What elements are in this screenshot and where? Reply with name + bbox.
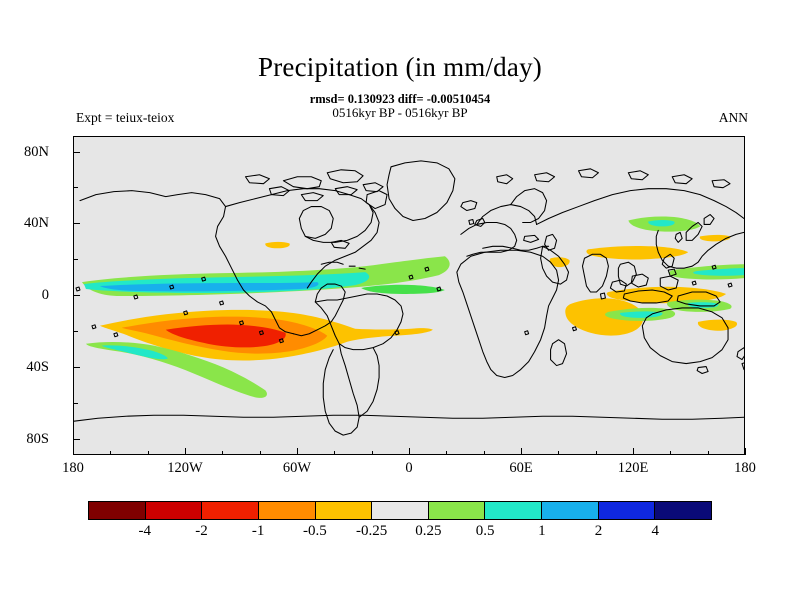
- colorbar-swatches: [88, 501, 712, 520]
- y-tick-60s: [73, 403, 78, 404]
- season-label: ANN: [719, 110, 748, 126]
- y-axis-label-40n: 40N: [0, 216, 49, 231]
- y-tick-40s: [73, 367, 80, 368]
- anomaly-shading: [82, 216, 744, 397]
- colorbar-segment-6: [429, 502, 486, 519]
- precipitation-anomaly-figure: Precipitation (in mm/day) rmsd= 0.130923…: [0, 0, 800, 600]
- map-plot-area: [73, 136, 745, 455]
- x-tick-120w: [185, 448, 186, 455]
- y-tick-40n: [73, 223, 80, 224]
- x-tick-120e: [633, 448, 634, 455]
- colorbar-segment-5: [372, 502, 429, 519]
- colorbar-segment-3: [259, 502, 316, 519]
- colorbar-segment-2: [202, 502, 259, 519]
- colorbar: -4-2-1-0.5-0.250.250.5124: [88, 501, 712, 520]
- experiment-label: Expt = teiux-teiox: [76, 110, 174, 126]
- page-title: Precipitation (in mm/day): [0, 52, 800, 82]
- x-axis-label-120w: 120W: [145, 460, 225, 476]
- y-tick-80n: [73, 152, 80, 153]
- world-map-svg: [74, 137, 744, 454]
- x-tick-140e: [670, 451, 671, 456]
- y-tick-80s: [73, 439, 80, 440]
- x-axis-label-120e: 120E: [593, 460, 673, 476]
- colorbar-label-9: 4: [620, 523, 690, 540]
- colorbar-segment-4: [316, 502, 373, 519]
- x-axis-label-180e: 180: [705, 460, 785, 476]
- x-axis-label-60e: 60E: [481, 460, 561, 476]
- x-axis-label-0: 0: [369, 460, 449, 476]
- statistics-subtitle: rmsd= 0.130923 diff= -0.00510454: [0, 92, 800, 106]
- colorbar-segment-8: [542, 502, 599, 519]
- y-axis-label-80n: 80N: [0, 145, 49, 160]
- x-tick-80e: [558, 451, 559, 456]
- x-tick-160w: [110, 451, 111, 456]
- x-axis-label-180w: 180: [33, 460, 113, 476]
- x-tick-160e: [708, 451, 709, 456]
- x-tick-0: [409, 448, 410, 455]
- y-axis-label-80s: 80S: [0, 432, 49, 447]
- y-axis-label-0: 0: [0, 288, 49, 303]
- y-tick-60n: [73, 187, 78, 188]
- x-tick-180e: [745, 448, 746, 455]
- y-tick-20n: [73, 259, 78, 260]
- colorbar-segment-10: [655, 502, 711, 519]
- x-tick-60e: [521, 448, 522, 455]
- x-tick-100w: [222, 451, 223, 456]
- colorbar-segment-9: [599, 502, 656, 519]
- colorbar-segment-0: [89, 502, 146, 519]
- x-tick-100e: [596, 451, 597, 456]
- y-axis-label-40s: 40S: [0, 360, 49, 375]
- x-tick-180w: [73, 448, 74, 455]
- x-tick-60w: [297, 448, 298, 455]
- x-tick-20w: [372, 451, 373, 456]
- y-tick-0: [73, 295, 80, 296]
- x-tick-140w: [148, 451, 149, 456]
- x-axis-label-60w: 60W: [257, 460, 337, 476]
- x-tick-80w: [260, 451, 261, 456]
- colorbar-segment-1: [146, 502, 203, 519]
- x-tick-20e: [446, 451, 447, 456]
- x-tick-40w: [334, 451, 335, 456]
- y-tick-20s: [73, 331, 78, 332]
- colorbar-segment-7: [485, 502, 542, 519]
- x-tick-40e: [484, 451, 485, 456]
